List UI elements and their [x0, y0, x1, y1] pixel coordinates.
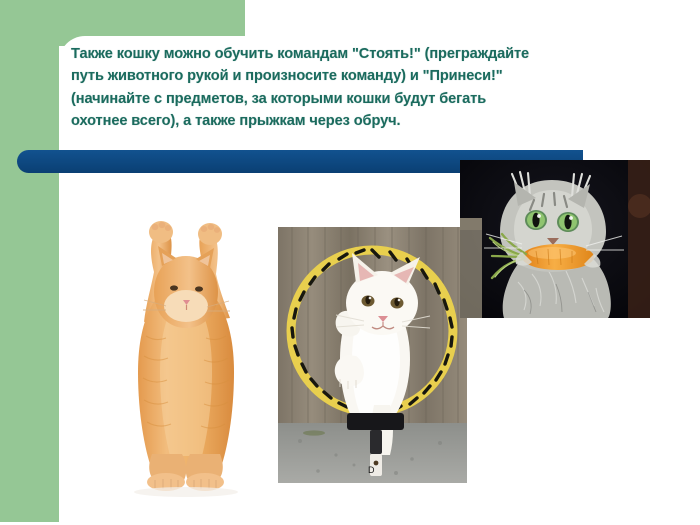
paragraph-line-4: охотнее всего), а также прыжкам через об…: [71, 110, 645, 132]
hoop-cat-illustration: D: [278, 227, 467, 483]
photo-ginger-kitten-standing: [110, 196, 264, 497]
carrot-kitten-illustration: [460, 160, 650, 318]
svg-text:D: D: [368, 465, 375, 475]
green-side-strip: [0, 0, 59, 522]
paragraph-line-2: путь животного рукой и произносите коман…: [71, 65, 645, 87]
ginger-kitten-illustration: [110, 196, 264, 497]
slide-canvas: Также кошку можно обучить командам "Стоя…: [0, 0, 700, 525]
photo-kitten-holding-carrot: [460, 160, 650, 318]
paragraph-line-1: Также кошку можно обучить командам "Стоя…: [71, 43, 645, 65]
paragraph-line-3: (начинайте с предметов, за которыми кошк…: [71, 88, 645, 110]
photo-cat-jumping-through-hoop: D: [278, 227, 467, 483]
slide-paragraph: Также кошку можно обучить командам "Стоя…: [71, 43, 645, 132]
